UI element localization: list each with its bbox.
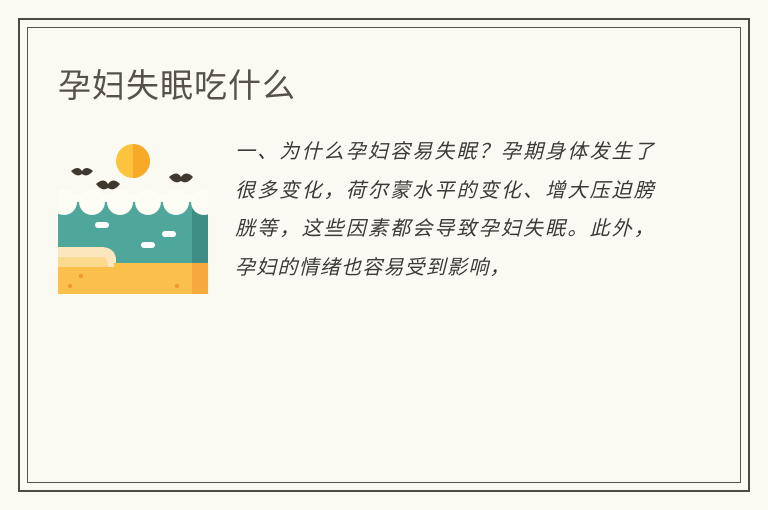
article-card: 孕妇失眠吃什么 xyxy=(0,0,768,510)
sun-icon xyxy=(116,144,150,178)
article-paragraph: 一、为什么孕妇容易失眠？孕期身体发生了很多变化，荷尔蒙水平的变化、增大压迫膀胱等… xyxy=(235,132,655,286)
page-title: 孕妇失眠吃什么 xyxy=(58,65,296,107)
card-content: 孕妇失眠吃什么 xyxy=(27,27,741,483)
beach-scene-illustration xyxy=(58,139,208,294)
